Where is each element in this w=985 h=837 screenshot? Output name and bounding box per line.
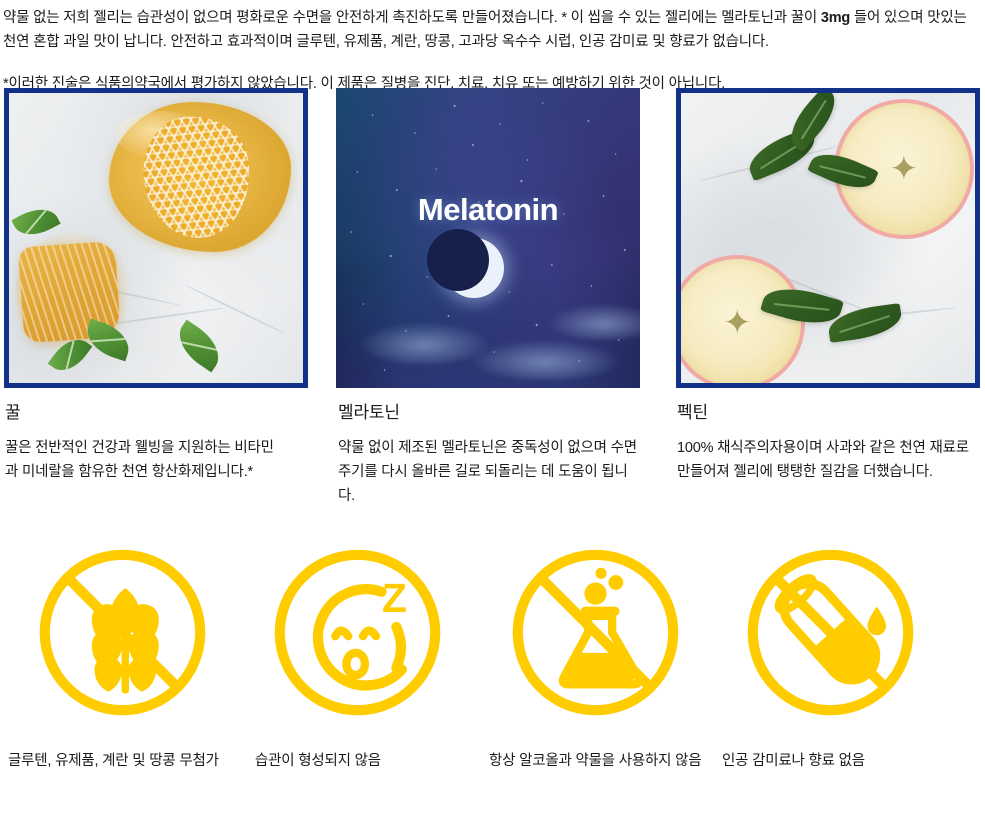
benefit-item-non-habit-forming: Z 습관이 형성되지 않음 [253,540,481,773]
no-artificial-sweeteners-dropper-icon [738,540,923,725]
honey-photo-content [9,93,303,383]
benefit-label: 습관이 형성되지 않음 [253,749,477,773]
benefit-label: 인공 감미료나 향료 없음 [722,749,948,773]
melatonin-night-sky-photo: Melatonin [336,88,640,388]
ingredient-title: 꿀 [5,402,277,424]
ingredient-card-melatonin: Melatonin [336,88,640,388]
benefit-icon-row: 글루텐, 유제품, 계란 및 땅콩 무첨가 Z 습관이 형성되지 않음 [0,540,985,830]
honey-photo [4,88,308,388]
ingredient-caption-melatonin: 멜라토닌 약물 없이 제조된 멜라토닌은 중독성이 없으며 수면 주기를 다시 … [338,402,638,508]
pectin-photo-content: ✦ ✦ [681,93,975,383]
apple-core-star: ✦ [720,306,754,340]
melatonin-dose-value: 3mg [821,10,850,26]
melatonin-photo-content: Melatonin [336,88,640,388]
crescent-moon-icon [444,238,504,298]
benefit-item-no-gluten: 글루텐, 유제품, 계란 및 땅콩 무첨가 [8,540,236,773]
ingredient-image-row: Melatonin ✦ ✦ [0,88,985,388]
non-habit-forming-sleepy-face-icon: Z [265,540,450,725]
melatonin-overlay-text: Melatonin [336,192,640,228]
no-gluten-icon [30,540,215,725]
svg-text:Z: Z [382,575,407,621]
benefit-label: 글루텐, 유제품, 계란 및 땅콩 무첨가 [8,749,230,773]
ingredient-description: 약물 없이 제조된 멜라토닌은 중독성이 없으며 수면 주기를 다시 올바른 길… [338,436,638,508]
cloud [470,340,620,380]
benefit-label: 항상 알코올과 약물을 사용하지 않음 [489,749,707,773]
ingredient-title: 펙틴 [677,402,982,424]
ingredient-card-honey [4,88,308,388]
ingredient-title: 멜라토닌 [338,402,638,424]
ingredient-caption-pectin: 펙틴 100% 채식주의자용이며 사과와 같은 천연 재료로 만들어져 젤리에 … [677,402,982,484]
ingredient-description: 100% 채식주의자용이며 사과와 같은 천연 재료로 만들어져 젤리에 탱탱한… [677,436,982,484]
apple-core-star: ✦ [887,152,921,186]
ingredient-caption-honey: 꿀 꿀은 전반적인 건강과 웰빙을 지원하는 비타민과 미네랄을 함유한 천연 … [5,402,277,484]
ingredient-card-pectin: ✦ ✦ [676,88,980,388]
benefit-item-no-artificial-sweeteners: 인공 감미료나 향료 없음 [722,540,950,773]
intro-text-before-dose: 약물 없는 저희 젤리는 습관성이 없으며 평화로운 수면을 안전하게 촉진하도… [3,10,821,26]
benefit-item-no-alcohol-drugs: 항상 알코올과 약물을 사용하지 않음 [489,540,717,773]
intro-copy: 약물 없는 저희 젤리는 습관성이 없으며 평화로운 수면을 안전하게 촉진하도… [3,0,982,96]
apple-pectin-photo: ✦ ✦ [676,88,980,388]
no-alcohol-no-drugs-flask-icon [503,540,688,725]
intro-paragraph-primary: 약물 없는 저희 젤리는 습관성이 없으며 평화로운 수면을 안전하게 촉진하도… [3,0,982,54]
ingredient-description: 꿀은 전반적인 건강과 웰빙을 지원하는 비타민과 미네랄을 함유한 천연 항산… [5,436,277,484]
